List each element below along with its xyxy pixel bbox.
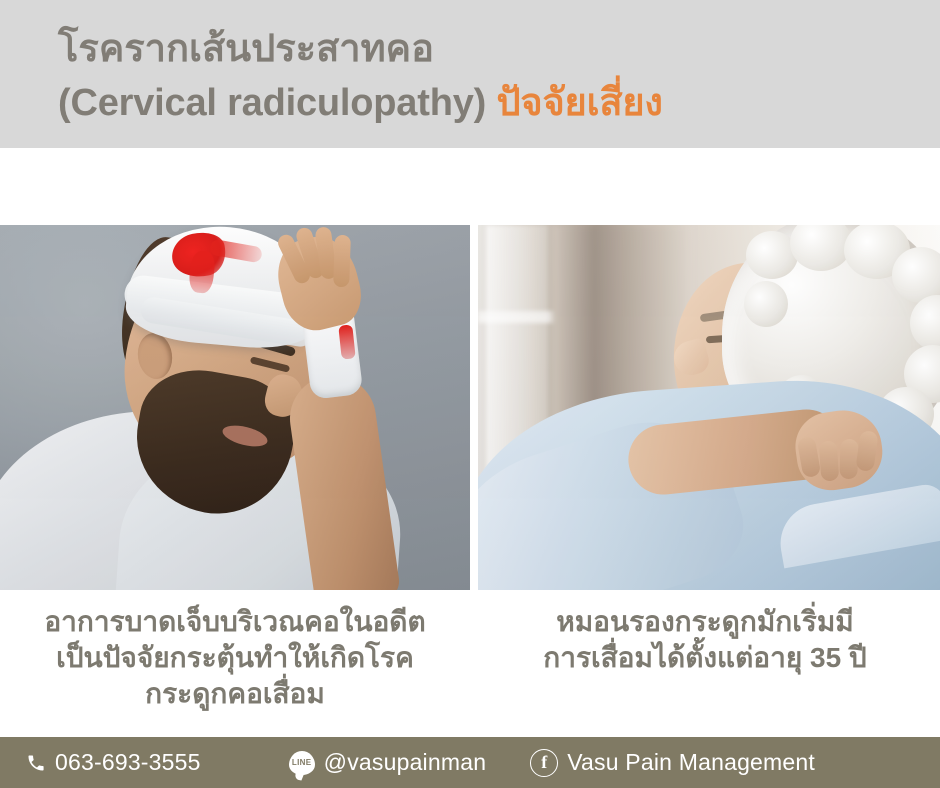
woman-finger xyxy=(819,440,840,481)
photo-row xyxy=(0,225,940,590)
caption-left-line2: เป็นปัจจัยกระตุ้นทำให้เกิดโรค xyxy=(0,640,470,676)
infographic-poster: โรครากเส้นประสาทคอ (Cervical radiculopat… xyxy=(0,0,940,788)
page-title-line1: โรครากเส้นประสาทคอ xyxy=(58,22,940,76)
man-finger xyxy=(333,235,351,288)
page-title-english: (Cervical radiculopathy) xyxy=(58,82,496,124)
line-badge-label: LINE xyxy=(292,759,311,767)
facebook-icon: f xyxy=(530,749,558,777)
facebook-page-name: Vasu Pain Management xyxy=(567,749,815,776)
caption-row: อาการบาดเจ็บบริเวณคอในอดีต เป็นปัจจัยกระ… xyxy=(0,594,940,737)
header-banner: โรครากเส้นประสาทคอ (Cervical radiculopat… xyxy=(0,0,940,148)
page-title-accent: ปัจจัยเสี่ยง xyxy=(496,82,662,124)
contact-line[interactable]: LINE @vasupainman xyxy=(289,749,487,776)
page-title-line2: (Cervical radiculopathy) ปัจจัยเสี่ยง xyxy=(58,76,940,130)
phone-number: 063-693-3555 xyxy=(55,749,201,776)
caption-left: อาการบาดเจ็บบริเวณคอในอดีต เป็นปัจจัยกระ… xyxy=(0,594,470,737)
line-icon: LINE xyxy=(289,751,315,775)
line-id: @vasupainman xyxy=(324,749,487,776)
phone-icon xyxy=(26,753,46,773)
contact-facebook[interactable]: f Vasu Pain Management xyxy=(530,749,815,777)
caption-right-line1: หมอนรองกระดูกมักเริ่มมี xyxy=(470,604,940,640)
contact-footer: 063-693-3555 LINE @vasupainman f Vasu Pa… xyxy=(0,737,940,788)
caption-left-line1: อาการบาดเจ็บบริเวณคอในอดีต xyxy=(0,604,470,640)
photo-elderly-woman xyxy=(478,225,940,590)
contact-phone[interactable]: 063-693-3555 xyxy=(26,749,201,776)
caption-right: หมอนรองกระดูกมักเริ่มมี การเสื่อมได้ตั้ง… xyxy=(470,594,940,737)
photo-injured-man xyxy=(0,225,470,590)
caption-right-line2: การเสื่อมได้ตั้งแต่อายุ 35 ปี xyxy=(470,640,940,676)
hair-curl xyxy=(744,281,788,327)
facebook-badge-label: f xyxy=(541,753,547,771)
caption-left-line3: กระดูกคอเสื่อม xyxy=(0,676,470,712)
